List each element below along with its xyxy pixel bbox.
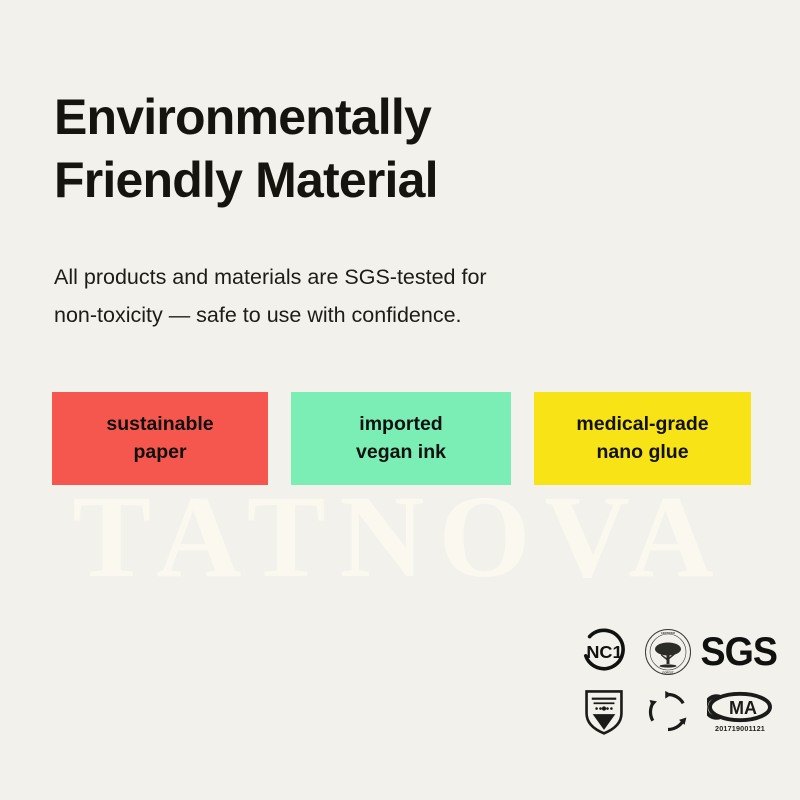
page-title-line-2: Friendly Material xyxy=(54,149,694,212)
material-chip-label-line-1: medical-grade xyxy=(576,411,708,439)
cma-certification-code: 201719001121 xyxy=(715,724,765,733)
page-title: Environmentally Friendly Material xyxy=(54,86,694,212)
certification-row-top: NC1 CERTIFIED FO xyxy=(572,618,782,680)
brand-watermark: TATNOVA xyxy=(0,478,800,596)
material-chip-label-line-2: paper xyxy=(133,439,186,467)
material-chip-group: sustainable paper imported vegan ink med… xyxy=(52,392,751,485)
material-chip-label-line-1: sustainable xyxy=(106,411,213,439)
nc1-certification-logo: NC1 xyxy=(572,624,636,680)
promotional-material-page: TATNOVA Environmentally Friendly Materia… xyxy=(0,0,800,800)
recycling-symbol-logo xyxy=(636,682,700,742)
sgs-certification-label: SGS xyxy=(701,632,778,672)
certification-badge-group: NC1 CERTIFIED FO xyxy=(572,618,782,742)
material-chip-label-line-1: imported xyxy=(359,411,442,439)
cma-certification-logo: MA 201719001121 xyxy=(700,682,780,742)
page-title-line-1: Environmentally xyxy=(54,86,694,149)
material-chip-vegan-ink: imported vegan ink xyxy=(291,392,511,485)
svg-text:FOREST: FOREST xyxy=(663,671,674,675)
page-description-line-2: non-toxicity — safe to use with confiden… xyxy=(54,296,674,334)
page-description-line-1: All products and materials are SGS-teste… xyxy=(54,258,674,296)
svg-text:CERTIFIED: CERTIFIED xyxy=(661,631,675,635)
svg-text:MA: MA xyxy=(729,698,757,718)
forest-tree-seal-logo: CERTIFIED FOREST xyxy=(636,624,700,680)
svg-text:NC1: NC1 xyxy=(586,642,622,662)
material-chip-nano-glue: medical-grade nano glue xyxy=(534,392,751,485)
material-chip-label-line-2: vegan ink xyxy=(356,439,446,467)
shield-certification-badge xyxy=(572,682,636,742)
material-chip-sustainable-paper: sustainable paper xyxy=(52,392,268,485)
sgs-certification-logo: SGS xyxy=(700,624,778,680)
certification-row-bottom: MA 201719001121 xyxy=(572,680,782,742)
page-description: All products and materials are SGS-teste… xyxy=(54,258,674,335)
material-chip-label-line-2: nano glue xyxy=(596,439,688,467)
